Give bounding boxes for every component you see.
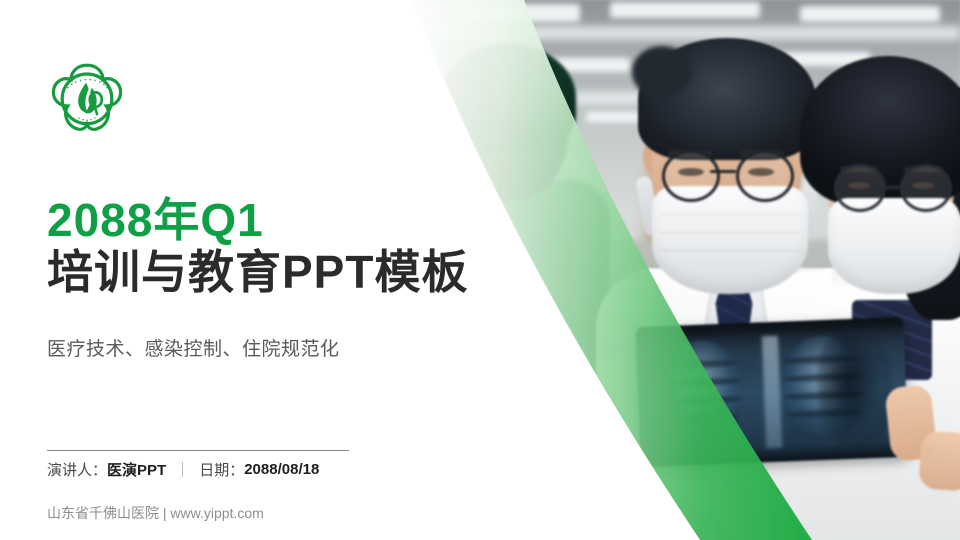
presenter-meta: 演讲人： 医演PPT 日期： 2088/08/18 xyxy=(47,459,319,480)
meta-divider-line xyxy=(47,450,349,451)
male-doctor-hair xyxy=(638,38,816,160)
xray-soft-tissue-shadow xyxy=(816,327,894,448)
chest-xray-film xyxy=(635,317,908,467)
meta-separator xyxy=(182,462,183,477)
page-title-year: 2088年Q1 xyxy=(47,196,467,245)
female-doctor-glasses-bridge xyxy=(876,186,900,189)
male-doctor-surgical-mask xyxy=(652,186,808,294)
female-doctor-hand xyxy=(918,430,960,491)
background-person-hair xyxy=(440,44,576,152)
hospital-logo xyxy=(47,60,127,144)
xray-lung-field xyxy=(662,339,742,446)
ceiling-light xyxy=(460,4,580,22)
presentation-title-slide: 2088年Q1 培训与教育PPT模板 医疗技术、感染控制、住院规范化 演讲人： … xyxy=(0,0,960,540)
doctors-photograph xyxy=(400,0,960,540)
footer-attribution: 山东省千佛山医院 | www.yippt.com xyxy=(47,503,264,523)
male-doctor-eyeglasses xyxy=(736,150,794,202)
speaker-label: 演讲人： xyxy=(47,459,107,480)
male-doctor-glasses-bridge xyxy=(710,170,736,173)
female-doctor-surgical-mask xyxy=(828,198,960,294)
title-block: 2088年Q1 培训与教育PPT模板 xyxy=(47,196,467,298)
ceiling-light xyxy=(610,2,760,18)
male-doctor-eyeglasses xyxy=(662,150,720,202)
page-title-main: 培训与教育PPT模板 xyxy=(47,247,467,299)
date-value: 2088/08/18 xyxy=(244,461,319,478)
speaker-value: 医演PPT xyxy=(107,459,166,480)
xray-spine xyxy=(762,336,782,449)
ceiling-light xyxy=(800,6,940,22)
date-label: 日期： xyxy=(199,459,244,480)
ceiling-strip xyxy=(400,26,960,40)
subtitle: 医疗技术、感染控制、住院规范化 xyxy=(47,334,340,361)
female-doctor-eyeglasses xyxy=(900,164,952,212)
